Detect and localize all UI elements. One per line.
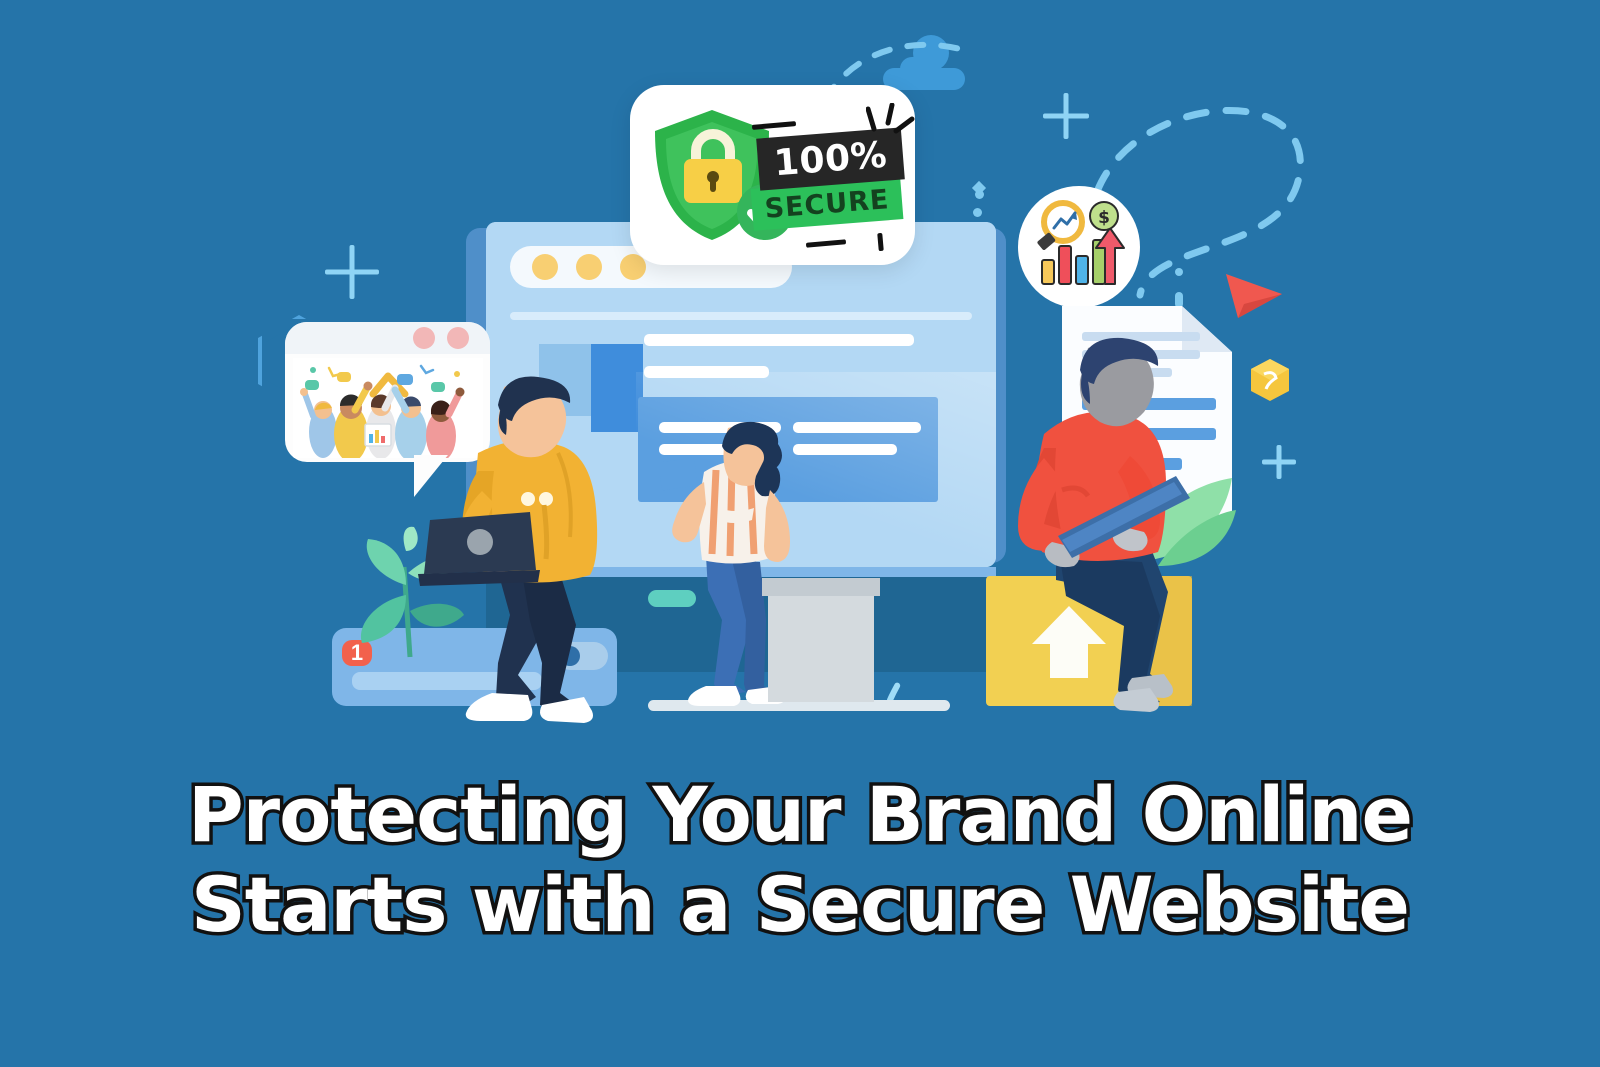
laptop[interactable]	[418, 512, 540, 598]
tiny-dot-icon-4	[973, 208, 982, 217]
tick-mark-bottom	[806, 239, 846, 247]
tiny-dot-icon-1	[1175, 268, 1183, 276]
page-title-line-1: Protecting Your Brand Online	[0, 770, 1600, 860]
content-divider	[510, 312, 972, 320]
hex-cube-icon	[1250, 358, 1290, 402]
plus-icon-left	[325, 245, 379, 299]
tick-mark-corner	[877, 233, 884, 251]
security-badge-card[interactable]: SECURE 100%	[630, 85, 915, 265]
hero-banner: SECURE 100% $	[0, 0, 1600, 1067]
spark-lines-icon	[866, 103, 918, 151]
plus-icon-right	[1262, 445, 1296, 479]
analytics-icons: $	[1030, 198, 1128, 296]
analytics-bubble[interactable]: $	[1018, 186, 1140, 308]
page-title: Protecting Your Brand Online Starts with…	[0, 770, 1600, 949]
secure-label: SECURE	[764, 184, 891, 225]
man-on-box	[1000, 330, 1230, 720]
browser-dot-2	[576, 254, 602, 280]
browser-dot-3	[620, 254, 646, 280]
browser-dot-1	[532, 254, 558, 280]
pedestal	[768, 592, 874, 702]
svg-text:$: $	[1098, 208, 1110, 228]
pedestal-top	[762, 578, 880, 596]
bubble-dot-2	[447, 327, 469, 349]
bubble-dot-1	[413, 327, 435, 349]
content-line-heading	[644, 334, 914, 346]
page-title-line-2: Starts with a Secure Website	[0, 860, 1600, 950]
